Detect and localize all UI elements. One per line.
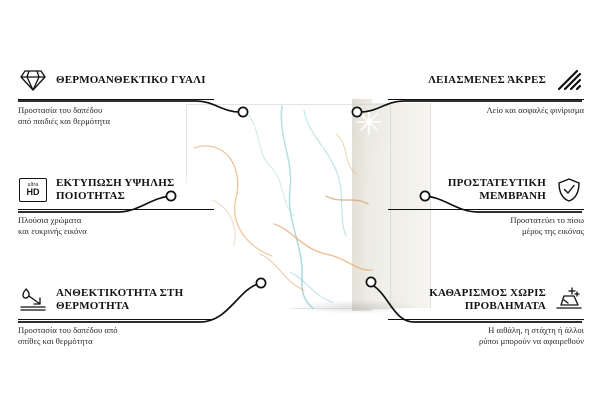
feature-header: ΘΕΡΜΟΑΝΘΕΚΤΙΚΟ ΓΥΑΛΙ <box>18 66 214 94</box>
feature-high-quality-print[interactable]: ultra HD ΕΚΤΥΠΩΣΗ ΥΨΗΛΗΣ ΠΟΙΟΤΗΤΑΣ Πλούσ… <box>18 176 214 237</box>
feature-header: ΚΑΘΑΡΙΣΜΟΣ ΧΩΡΙΣ ΠΡΟΒΛΗΜΑΤΑ <box>388 286 584 314</box>
desc-line-1: Η αιθάλη, η στάχτη ή άλλοι <box>388 325 584 336</box>
feature-header: ΑΝΘΕΚΤΙΚΟΤΗΤΑ ΣΤΗ ΘΕΡΜΟΤΗΤΑ <box>18 286 214 314</box>
marble-veins <box>186 104 391 309</box>
glass-seam-1 <box>254 104 255 309</box>
divider <box>18 319 214 320</box>
feature-header: ΠΡΟΣΤΑΤΕΥΤΙΚΗ ΜΕΜΒΡΑΝΗ <box>388 176 584 204</box>
desc-line-2: και ευκρινής εικόνα <box>18 226 214 237</box>
divider <box>18 99 214 100</box>
divider <box>388 99 584 100</box>
feature-title: ΕΚΤΥΠΩΣΗ ΥΨΗΛΗΣ ΠΟΙΟΤΗΤΑΣ <box>56 177 214 203</box>
feature-description: Πλούσια χρώματα και ευκρινής εικόνα <box>18 215 214 237</box>
feature-title: ΚΑΘΑΡΙΣΜΟΣ ΧΩΡΙΣ ΠΡΟΒΛΗΜΑΤΑ <box>388 287 546 313</box>
shield-check-icon <box>554 176 584 204</box>
feature-description: Λείο και ασφαλές φινίρισμα <box>388 105 584 116</box>
polished-edge-icon <box>554 66 584 94</box>
feature-title: ΠΡΟΣΤΑΤΕΥΤΙΚΗ ΜΕΜΒΡΑΝΗ <box>388 177 546 203</box>
feature-heat-resistant-glass[interactable]: ΘΕΡΜΟΑΝΘΕΚΤΙΚΟ ΓΥΑΛΙ Προστασία του δαπέδ… <box>18 66 214 127</box>
divider <box>388 209 584 210</box>
feature-heat-durability[interactable]: ΑΝΘΕΚΤΙΚΟΤΗΤΑ ΣΤΗ ΘΕΡΜΟΤΗΤΑ Προστασία το… <box>18 286 214 347</box>
feature-header: ultra HD ΕΚΤΥΠΩΣΗ ΥΨΗΛΗΣ ΠΟΙΟΤΗΤΑΣ <box>18 176 214 204</box>
feature-description: Προστατεύει το πίσω μέρος της εικόνας <box>388 215 584 237</box>
desc-line-2: σπίθες και θερμότητα <box>18 336 214 347</box>
glass-panel <box>186 104 391 309</box>
glass-seam-2 <box>322 104 323 309</box>
desc-line-2: από παιδιές και θερμότητα <box>18 116 214 127</box>
feature-easy-cleaning[interactable]: ΚΑΘΑΡΙΣΜΟΣ ΧΩΡΙΣ ΠΡΟΒΛΗΜΑΤΑ Η αιθάλη, η … <box>388 286 584 347</box>
feature-title: ΘΕΡΜΟΑΝΘΕΚΤΙΚΟ ΓΥΑΛΙ <box>56 74 206 87</box>
desc-line-1: Προστασία του δαπέδου από <box>18 325 214 336</box>
desc-line-2: μέρος της εικόνας <box>388 226 584 237</box>
feature-description: Η αιθάλη, η στάχτη ή άλλοι ρύποι μπορούν… <box>388 325 584 347</box>
feature-header: ΛΕΙΑΣΜΕΝΕΣ ΆΚΡΕΣ <box>388 66 584 94</box>
divider <box>388 319 584 320</box>
feature-polished-edges[interactable]: ΛΕΙΑΣΜΕΝΕΣ ΆΚΡΕΣ Λείο και ασφαλές φινίρι… <box>388 66 584 116</box>
desc-line-2: ρύποι μπορούν να αφαιρεθούν <box>388 336 584 347</box>
hd-label: HD <box>27 188 40 197</box>
flame-deflect-icon <box>18 286 48 314</box>
infographic-stage: ΘΕΡΜΟΑΝΘΕΚΤΙΚΟ ΓΥΑΛΙ Προστασία του δαπέδ… <box>0 0 600 400</box>
feature-description: Προστασία του δαπέδου από παιδιές και θε… <box>18 105 214 127</box>
desc-line-1: Πλούσια χρώματα <box>18 215 214 226</box>
ultra-hd-icon: ultra HD <box>18 176 48 204</box>
divider <box>18 209 214 210</box>
desc-line-1: Προστασία του δαπέδου <box>18 105 214 116</box>
feature-description: Προστασία του δαπέδου από σπίθες και θερ… <box>18 325 214 347</box>
desc-line-1: Λείο και ασφαλές φινίρισμα <box>388 105 584 116</box>
feature-title: ΑΝΘΕΚΤΙΚΟΤΗΤΑ ΣΤΗ ΘΕΡΜΟΤΗΤΑ <box>56 287 214 313</box>
desc-line-1: Προστατεύει το πίσω <box>388 215 584 226</box>
feature-title: ΛΕΙΑΣΜΕΝΕΣ ΆΚΡΕΣ <box>428 74 546 87</box>
feature-protective-membrane[interactable]: ΠΡΟΣΤΑΤΕΥΤΙΚΗ ΜΕΜΒΡΑΝΗ Προστατεύει το πί… <box>388 176 584 237</box>
diamond-icon <box>18 66 48 94</box>
sponge-sparkle-icon <box>554 286 584 314</box>
